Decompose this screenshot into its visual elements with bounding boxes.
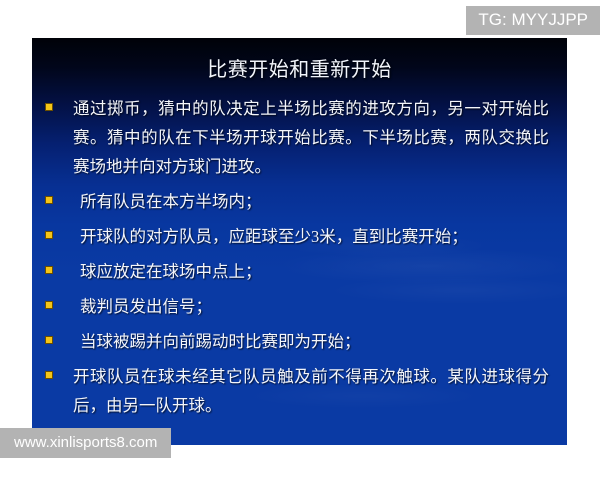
list-item: 通过掷币，猜中的队决定上半场比赛的进攻方向，另一对开始比赛。猜中的队在下半场开球… xyxy=(32,94,567,181)
slide-canvas: 比赛开始和重新开始 通过掷币，猜中的队决定上半场比赛的进攻方向，另一对开始比赛。… xyxy=(32,38,567,445)
square-bullet-icon xyxy=(45,336,53,344)
watermark-website-url: www.xinlisports8.com xyxy=(0,428,171,458)
list-item-text: 球应放定在球场中点上； xyxy=(80,257,549,286)
list-item: 裁判员发出信号； xyxy=(32,292,567,321)
list-item-text: 裁判员发出信号； xyxy=(80,292,549,321)
list-item: 开球队员在球未经其它队员触及前不得再次触球。某队进球得分后，由另一队开球。 xyxy=(32,362,567,420)
list-item-text: 通过掷币，猜中的队决定上半场比赛的进攻方向，另一对开始比赛。猜中的队在下半场开球… xyxy=(73,94,549,181)
square-bullet-icon xyxy=(45,103,53,111)
square-bullet-icon xyxy=(45,231,53,239)
square-bullet-icon xyxy=(45,266,53,274)
square-bullet-icon xyxy=(45,301,53,309)
list-item: 当球被踢并向前踢动时比赛即为开始； xyxy=(32,327,567,356)
watermark-telegram: TG: MYYJJPP xyxy=(466,6,600,35)
list-item: 球应放定在球场中点上； xyxy=(32,257,567,286)
list-item-text: 所有队员在本方半场内； xyxy=(80,187,549,216)
list-item: 所有队员在本方半场内； xyxy=(32,187,567,216)
list-item: 开球队的对方队员，应距球至少3米，直到比赛开始； xyxy=(32,222,567,251)
presentation-slide-screenshot: { "slide": { "title": "比赛开始和重新开始", "bull… xyxy=(0,0,600,480)
list-item-text: 开球队的对方队员，应距球至少3米，直到比赛开始； xyxy=(80,222,549,251)
page-title: 比赛开始和重新开始 xyxy=(32,58,567,82)
square-bullet-icon xyxy=(45,196,53,204)
list-item-text: 当球被踢并向前踢动时比赛即为开始； xyxy=(80,327,549,356)
square-bullet-icon xyxy=(45,371,53,379)
bullet-list: 通过掷币，猜中的队决定上半场比赛的进攻方向，另一对开始比赛。猜中的队在下半场开球… xyxy=(32,94,567,426)
list-item-text: 开球队员在球未经其它队员触及前不得再次触球。某队进球得分后，由另一队开球。 xyxy=(73,362,549,420)
